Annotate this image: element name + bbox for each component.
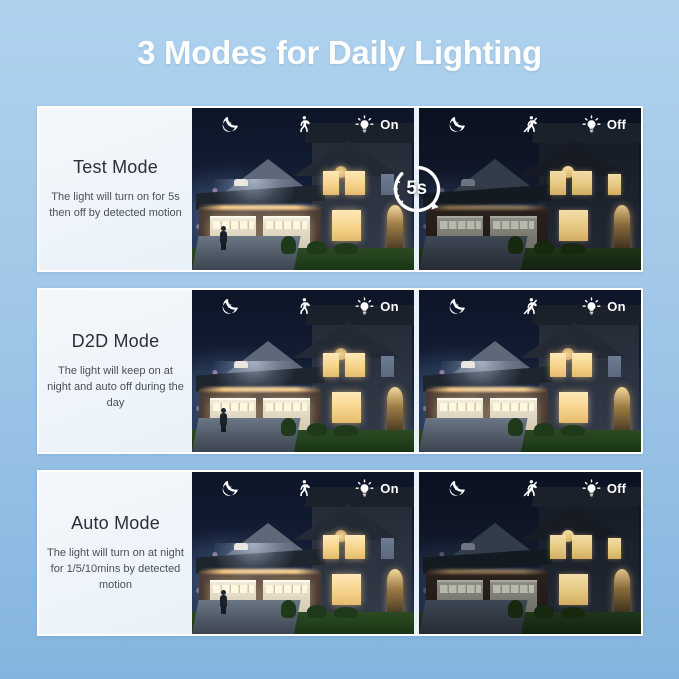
upper-window-b [550, 353, 566, 377]
mode-photo-pair: On [192, 290, 641, 452]
front-door [614, 205, 630, 254]
eave-light-strip [199, 387, 321, 392]
upper-window-c [381, 356, 394, 377]
mode-photo-pair: On [192, 472, 641, 634]
garage-door-right-windows [493, 585, 534, 593]
upper-window-b [323, 535, 339, 559]
garage-door-right-windows [493, 221, 534, 229]
bay-window [332, 210, 361, 241]
person-legs [221, 242, 226, 250]
garage-door-right-windows [266, 585, 307, 593]
upper-window-b [323, 171, 339, 195]
page-title: 3 Modes for Daily Lighting [0, 31, 679, 75]
person-legs [221, 606, 226, 614]
front-door [614, 387, 630, 436]
shrub-b [534, 605, 554, 618]
shrub-b [534, 241, 554, 254]
eave-light-strip [199, 205, 321, 210]
house-photo-d2d-mode-right: On [419, 290, 641, 452]
security-light-fixture [234, 361, 248, 368]
front-door [387, 569, 403, 618]
shrub-b [307, 241, 327, 254]
security-light-fixture [461, 543, 475, 550]
shrub-b [534, 423, 554, 436]
mode-info-panel: Test Mode The light will turn on for 5s … [39, 108, 192, 270]
bay-window [559, 210, 588, 241]
security-light-fixture [234, 179, 248, 186]
upper-window-a [345, 353, 365, 377]
shrub-c [561, 607, 585, 618]
person-legs [221, 424, 226, 432]
bay-window [559, 392, 588, 423]
shrub-a [281, 236, 297, 254]
upper-window-c [608, 538, 621, 559]
infographic-page: 3 Modes for Daily Lighting Test Mode The… [0, 0, 679, 679]
eave-light-strip [426, 569, 548, 574]
shrub-c [334, 243, 358, 254]
upper-window-b [550, 171, 566, 195]
garage-door-left-windows [440, 221, 481, 229]
security-light-fixture [234, 543, 248, 550]
mode-row: D2D Mode The light will keep on at night… [37, 288, 643, 454]
front-door [387, 205, 403, 254]
walking-person-figure [219, 226, 228, 250]
upper-window-c [608, 356, 621, 377]
upper-window-a [572, 171, 592, 195]
security-light-fixture [461, 179, 475, 186]
front-door [614, 569, 630, 618]
shrub-c [334, 425, 358, 436]
mode-info-panel: D2D Mode The light will keep on at night… [39, 290, 192, 452]
shrub-a [508, 418, 524, 436]
upper-window-a [572, 535, 592, 559]
upper-window-c [608, 174, 621, 195]
mode-rows: Test Mode The light will turn on for 5s … [37, 106, 643, 636]
mode-title: D2D Mode [72, 331, 160, 352]
shrub-a [508, 236, 524, 254]
upper-window-b [550, 535, 566, 559]
shrub-b [307, 605, 327, 618]
garage-door-right-windows [266, 403, 307, 411]
mode-info-panel: Auto Mode The light will turn on at nigh… [39, 472, 192, 634]
upper-window-c [381, 538, 394, 559]
mode-title: Auto Mode [71, 513, 160, 534]
upper-window-c [381, 174, 394, 195]
garage-door-left-windows [440, 585, 481, 593]
garage-door-left-windows [440, 403, 481, 411]
mode-row: Auto Mode The light will turn on at nigh… [37, 470, 643, 636]
mode-description: The light will turn on at night for 1/5/… [47, 545, 184, 593]
shrub-c [334, 607, 358, 618]
house-photo-d2d-mode-left: On [192, 290, 414, 452]
shrub-a [281, 600, 297, 618]
garage-door-right-windows [493, 403, 534, 411]
walking-person-figure [219, 408, 228, 432]
bay-window [332, 574, 361, 605]
walking-person-figure [219, 590, 228, 614]
house-photo-auto-mode-right: Off [419, 472, 641, 634]
mode-row: Test Mode The light will turn on for 5s … [37, 106, 643, 272]
eave-light-strip [426, 387, 548, 392]
front-door [387, 387, 403, 436]
shrub-a [281, 418, 297, 436]
bay-window [332, 392, 361, 423]
upper-window-b [323, 353, 339, 377]
upper-window-a [345, 535, 365, 559]
shrub-a [508, 600, 524, 618]
garage-door-right-windows [266, 221, 307, 229]
security-light-fixture [461, 361, 475, 368]
house-photo-test-mode-right: Off [419, 108, 641, 270]
eave-light-strip [426, 205, 548, 210]
shrub-c [561, 425, 585, 436]
mode-description: The light will keep on at night and auto… [47, 363, 184, 411]
bay-window [559, 574, 588, 605]
shrub-b [307, 423, 327, 436]
eave-light-strip [199, 569, 321, 574]
mode-title: Test Mode [73, 157, 158, 178]
house-photo-auto-mode-left: On [192, 472, 414, 634]
upper-window-a [345, 171, 365, 195]
upper-window-a [572, 353, 592, 377]
mode-photo-pair: On [192, 108, 641, 270]
shrub-c [561, 243, 585, 254]
house-photo-test-mode-left: On [192, 108, 414, 270]
mode-description: The light will turn on for 5s then off b… [47, 189, 184, 221]
